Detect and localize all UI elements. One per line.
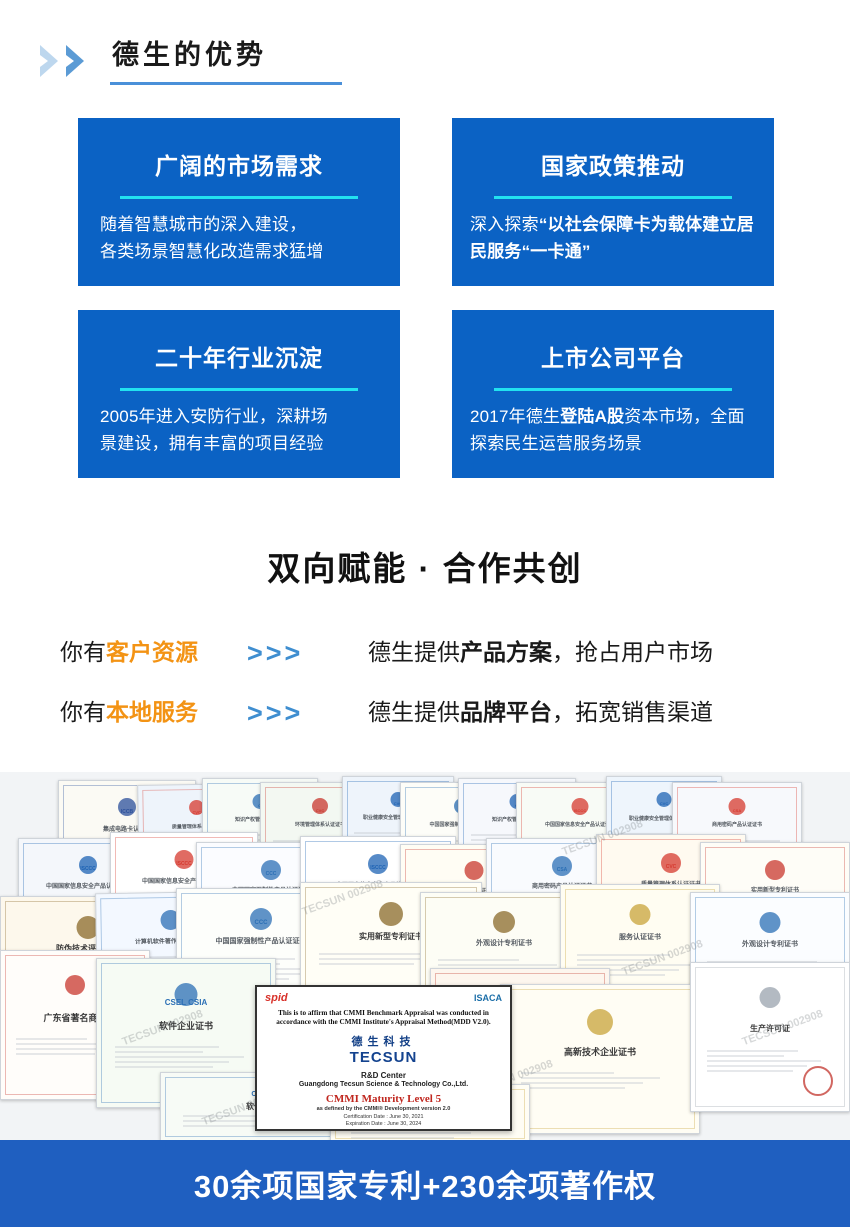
- card-title: 国家政策推动: [452, 146, 774, 186]
- cocreate-title: 双向赋能 · 合作共创: [0, 542, 850, 590]
- certificate-title: 外观设计专利证书: [691, 939, 849, 949]
- card-body-line2: 各类场景智慧化改造需求猛增: [100, 242, 324, 261]
- advantage-card-listed-company[interactable]: 上市公司平台 2017年德生登陆A股资本市场，全面探索民生运营服务场景: [452, 310, 774, 478]
- certificate-emblem-icon: [765, 860, 785, 880]
- right-suffix: ，拓宽销售渠道: [552, 699, 713, 725]
- cocreate-row-2-right: 德生提供品牌平台，拓宽销售渠道: [368, 692, 713, 732]
- page-root: 德生的优势 广阔的市场需求 随着智慧城市的深入建设， 各类场景智慧化改造需求猛增…: [0, 0, 850, 1227]
- cmmi-affirm-text: This is to affirm that CMMI Benchmark Ap…: [263, 1009, 504, 1027]
- card-body: 随着智慧城市的深入建设， 各类场景智慧化改造需求猛增: [78, 211, 400, 265]
- cmmi-certificate[interactable]: spid ISACA This is to affirm that CMMI B…: [255, 985, 512, 1131]
- card-title: 广阔的市场需求: [78, 146, 400, 186]
- cmmi-cert-date: Certification Date : June 30, 2021: [343, 1114, 423, 1120]
- certificate-collage: spid ISACA This is to affirm that CMMI B…: [0, 772, 850, 1140]
- card-body-line1: 2005年进入安防行业，深耕场: [100, 407, 328, 426]
- certificate-emblem-icon: [379, 902, 403, 926]
- page-title: 德生的优势: [112, 36, 267, 74]
- cmmi-department: R&D Center: [257, 1071, 510, 1080]
- certificate-brand: CSA: [673, 808, 801, 813]
- cmmi-level: CMMI Maturity Level 5: [257, 1093, 510, 1105]
- certificate-title: 商用密码产品认证证书: [673, 821, 801, 828]
- card-body: 2005年进入安防行业，深耕场 景建设，拥有丰富的项目经验: [78, 403, 400, 457]
- card-body-bold: 登陆A股: [560, 407, 624, 426]
- certificate-emblem-icon: [368, 854, 388, 874]
- card-title: 二十年行业沉淀: [78, 338, 400, 378]
- card-body-prefix: 深入探索: [470, 215, 539, 234]
- official-seal-icon: [803, 1066, 833, 1096]
- certificate-emblem-icon: [587, 1009, 613, 1035]
- card-divider: [494, 388, 732, 391]
- cmmi-defined-by: as defined by the CMMI® Development vers…: [257, 1106, 510, 1112]
- certificate-emblem-icon: [760, 912, 781, 933]
- arrows-icon: >>>: [247, 633, 303, 673]
- certificate-emblem-icon: [493, 911, 515, 933]
- right-prefix: 德生提供: [368, 639, 460, 665]
- card-body-line1: 随着智慧城市的深入建设，: [100, 215, 306, 234]
- card-divider: [494, 196, 732, 199]
- certificate-emblem-icon: [261, 860, 281, 880]
- card-divider: [120, 196, 358, 199]
- cocreate-row-1: 你有客户资源 >>> 德生提供产品方案，抢占用户市场: [0, 632, 850, 672]
- left-prefix: 你有: [60, 699, 106, 725]
- cmmi-company: Guangdong Tecsun Science & Technology Co…: [257, 1081, 510, 1088]
- card-body-prefix: 2017年德生: [470, 407, 560, 426]
- right-suffix: ，抢占用户市场: [552, 639, 713, 665]
- certificate-emblem-icon: [465, 861, 484, 880]
- card-body: 2017年德生登陆A股资本市场，全面探索民生运营服务场景: [452, 403, 774, 457]
- card-body-line2: 景建设，拥有丰富的项目经验: [100, 434, 324, 453]
- certificate-emblem-icon: [250, 908, 272, 930]
- cocreate-row-2: 你有本地服务 >>> 德生提供品牌平台，拓宽销售渠道: [0, 692, 850, 732]
- card-divider: [120, 388, 358, 391]
- tecsun-logo: 德生科技 TECSUN: [257, 1033, 510, 1066]
- section-header: 德生的优势: [0, 36, 850, 96]
- affirm-line-2: accordance with the CMMI Institute's App…: [276, 1018, 490, 1026]
- cocreate-row-2-left: 你有本地服务: [60, 692, 198, 732]
- right-bold: 产品方案: [460, 639, 552, 665]
- certificate-brand: CSEL CSIA: [97, 998, 275, 1007]
- certificate-emblem-icon: [552, 856, 572, 876]
- left-highlight: 本地服务: [106, 699, 198, 725]
- left-highlight: 客户资源: [106, 639, 198, 665]
- cmmi-dates: Certification Date : June 30, 2021 Expir…: [257, 1114, 510, 1128]
- double-chevron-right-icon: [38, 44, 102, 78]
- spid-logo: spid: [265, 992, 288, 1004]
- certificate-emblem-icon: [760, 987, 781, 1008]
- advantage-card-market-demand[interactable]: 广阔的市场需求 随着智慧城市的深入建设， 各类场景智慧化改造需求猛增: [78, 118, 400, 286]
- certificate-emblem-icon: [65, 975, 85, 995]
- certificate-title: 高新技术企业证书: [501, 1045, 699, 1058]
- card-title: 上市公司平台: [452, 338, 774, 378]
- cocreate-row-1-left: 你有客户资源: [60, 632, 198, 672]
- tecsun-logo-en: TECSUN: [257, 1049, 510, 1066]
- advantage-card-national-policy[interactable]: 国家政策推动 深入探索“以社会保障卡为载体建立居民服务“一卡通”: [452, 118, 774, 286]
- isaca-logo: ISACA: [474, 993, 502, 1003]
- certificate-thumbnail[interactable]: 高新技术企业证书: [500, 984, 700, 1134]
- tecsun-logo-cn: 德生科技: [257, 1033, 510, 1049]
- patents-banner: 30余项国家专利+230余项著作权: [0, 1140, 850, 1227]
- right-bold: 品牌平台: [460, 699, 552, 725]
- left-prefix: 你有: [60, 639, 106, 665]
- patents-banner-text: 30余项国家专利+230余项著作权: [0, 1140, 850, 1227]
- certificate-emblem-icon: [661, 853, 681, 873]
- advantage-cards: 广阔的市场需求 随着智慧城市的深入建设， 各类场景智慧化改造需求猛增 国家政策推…: [0, 118, 850, 478]
- affirm-line-1: This is to affirm that CMMI Benchmark Ap…: [278, 1009, 489, 1017]
- cmmi-exp-date: Expiration Date : June 30, 2024: [346, 1121, 422, 1127]
- certificate-body-lines: [115, 1043, 257, 1071]
- certificate-emblem-icon: [630, 904, 651, 925]
- right-prefix: 德生提供: [368, 699, 460, 725]
- cocreate-row-1-right: 德生提供产品方案，抢占用户市场: [368, 632, 713, 672]
- chevron-right-icon-dark: [64, 44, 94, 78]
- advantage-card-industry-experience[interactable]: 二十年行业沉淀 2005年进入安防行业，深耕场 景建设，拥有丰富的项目经验: [78, 310, 400, 478]
- title-underline: [110, 82, 342, 85]
- card-body: 深入探索“以社会保障卡为载体建立居民服务“一卡通”: [452, 211, 774, 265]
- arrows-icon: >>>: [247, 693, 303, 733]
